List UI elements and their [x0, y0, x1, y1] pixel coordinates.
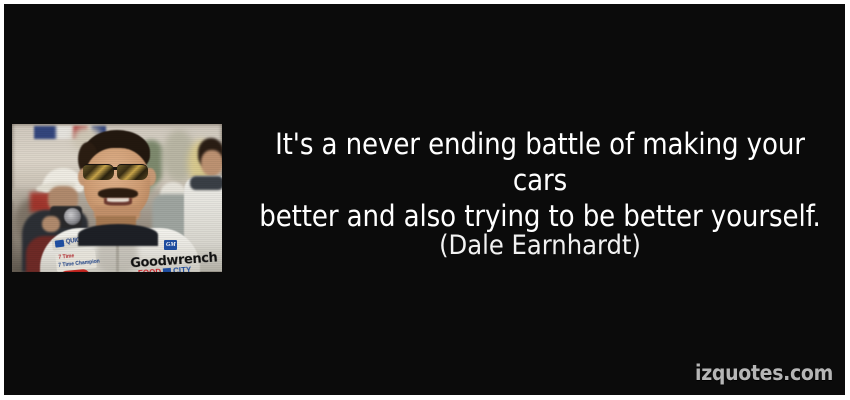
quote-attribution: (Dale Earnhardt)	[252, 230, 828, 262]
site-watermark: izquotes.com	[695, 361, 833, 385]
sunglasses-icon	[83, 164, 153, 179]
sunglasses-left-lens	[83, 164, 114, 180]
quote-canvas: QUICK LUBE 7 Time 7 Time Champion Coca-C…	[4, 4, 845, 395]
subject-teeth	[107, 198, 129, 202]
patch-city-label: CITY	[173, 265, 192, 272]
food-city-box-icon	[163, 267, 172, 272]
patch-champion-top-label: 7 Time	[58, 253, 74, 261]
camera-lens	[64, 208, 81, 225]
author-photo: QUICK LUBE 7 Time 7 Time Champion Coca-C…	[12, 124, 222, 272]
photo-inner: QUICK LUBE 7 Time 7 Time Champion Coca-C…	[12, 124, 222, 272]
right-person-face	[201, 150, 222, 176]
gm-logo-label: GM	[166, 242, 176, 248]
gm-logo-icon	[55, 240, 65, 248]
right-person-collar	[190, 176, 222, 190]
quote-line-2: better and also trying to be better your…	[252, 198, 828, 234]
left-person-hand	[42, 216, 60, 232]
quote-line-1: It's a never ending battle of making you…	[252, 126, 828, 198]
quote-card: QUICK LUBE 7 Time 7 Time Champion Coca-C…	[0, 0, 850, 400]
patch-food-label: FOOD	[138, 268, 162, 272]
sunglasses-right-lens	[117, 164, 148, 180]
subject-suit-collar	[78, 224, 158, 246]
quote-text: It's a never ending battle of making you…	[252, 126, 828, 234]
